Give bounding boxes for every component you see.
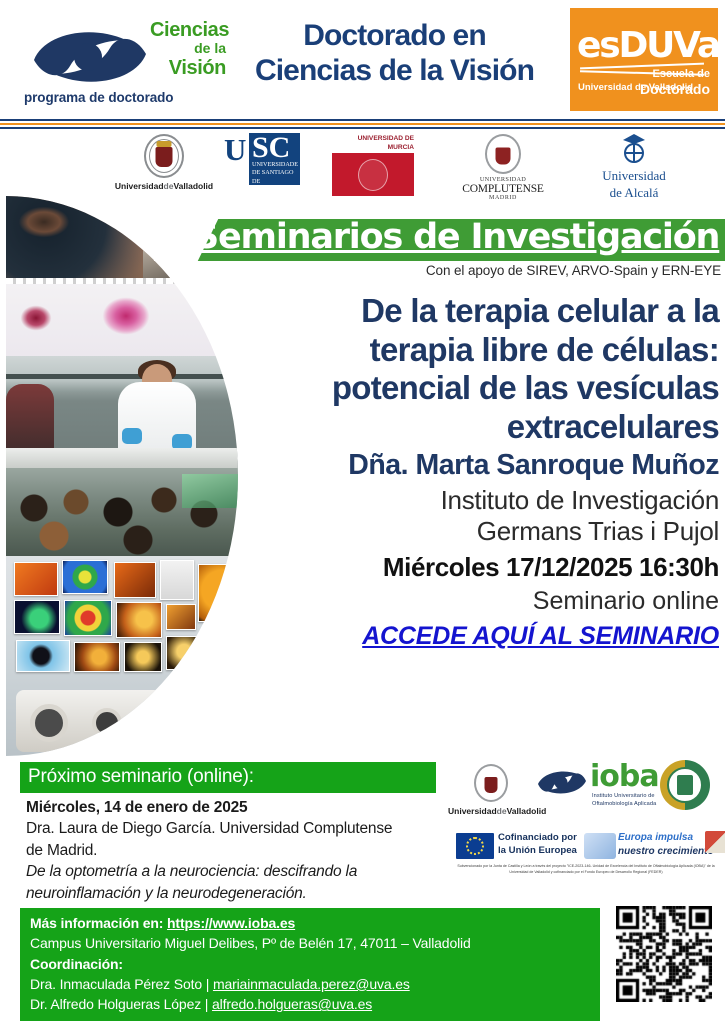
next-seminar-box: Próximo seminario (online): Miércoles, 1… — [20, 762, 436, 905]
next-seminar-heading: Próximo seminario (online): — [20, 762, 436, 793]
funding-logos-row: Cofinanciado por la Unión Europea Europa… — [456, 830, 722, 862]
page-title-line-2: Ciencias de la Visión — [222, 53, 567, 88]
photo-histology-slides — [6, 278, 238, 356]
more-info-line: Más información en: https://www.ioba.es — [30, 913, 590, 933]
murcia-crest-icon — [332, 153, 414, 196]
next-seminar-talk-line-1: De la optometría a la neurociencia: desc… — [26, 861, 434, 883]
contact-box: Más información en: https://www.ioba.es … — [20, 908, 600, 1021]
usc-letters-sc: SC — [252, 132, 290, 164]
junta-castilla-leon-icon — [705, 831, 725, 853]
usc-block: SC UNIVERSIDADE DE SANTIAGO DE COMPOSTEL… — [249, 133, 300, 185]
uva-seal-icon-footer — [474, 764, 508, 802]
usc-mark-icon: U SC UNIVERSIDADE DE SANTIAGO DE COMPOST… — [224, 133, 300, 185]
complutense-label-3: MADRID — [444, 195, 562, 201]
photo-lecture-audience — [6, 468, 238, 556]
esduva-wordmark: esDUVa — [577, 28, 713, 64]
affiliation-line-1: Instituto de Investigación — [234, 485, 719, 517]
separator-2: | — [201, 996, 212, 1012]
seminar-speaker: Dña. Marta Sanroque Muñoz — [234, 448, 719, 482]
eye-icon — [30, 26, 150, 88]
header-divider — [0, 119, 725, 129]
logo-line-3: Visión — [150, 58, 226, 79]
more-info-label: Más información en: — [30, 915, 163, 931]
complutense-label-1: UNIVERSIDAD — [444, 176, 562, 183]
ciencias-vision-wordmark: Ciencias de la Visión — [150, 20, 226, 79]
coordinator-2-email[interactable]: alfredo.holgueras@uva.es — [212, 996, 372, 1012]
logo-universidad-valladolid: UniversidaddeValladolid — [100, 134, 228, 191]
seminar-poster: Ciencias de la Visión programa de doctor… — [0, 0, 725, 1024]
usc-sublabel: UNIVERSIDADE DE SANTIAGO DE COMPOSTELA — [252, 161, 300, 194]
logo-line-1: Ciencias — [150, 20, 226, 40]
logo-line-2: de la — [150, 40, 226, 58]
coordinator-2-name: Dr. Alfredo Holgueras López — [30, 996, 201, 1012]
banner-title: Seminarios de Investigación — [194, 216, 719, 258]
page-title: Doctorado en Ciencias de la Visión — [222, 18, 567, 89]
usc-letter-u: U — [224, 134, 246, 165]
seminar-title-line-1: De la terapia celular a la — [234, 292, 719, 331]
coordinator-2-line: Dr. Alfredo Holgueras López | alfredo.ho… — [30, 994, 590, 1014]
photo-collage — [6, 196, 238, 756]
murcia-label: UNIVERSIDAD DE MURCIA — [332, 135, 414, 152]
qr-code[interactable] — [616, 906, 712, 1002]
excellence-seal-icon — [660, 760, 710, 810]
photo-eye-examination — [6, 196, 238, 278]
logo-universidad-murcia: UNIVERSIDAD DE MURCIA — [325, 135, 421, 196]
alcala-label-1: Universidad — [570, 168, 698, 183]
coordinator-1-email[interactable]: mariainmaculada.perez@uva.es — [213, 976, 410, 992]
seminar-affiliation: Instituto de Investigación Germans Trias… — [234, 485, 719, 548]
seminar-mode: Seminario online — [234, 586, 719, 616]
funding-disclaimer: Subvencionado por la Junta de Castilla y… — [450, 864, 722, 876]
logo-subtitle: programa de doctorado — [24, 90, 173, 105]
seminar-title-line-4: extracelulares — [234, 408, 719, 447]
eu-flag-icon — [456, 833, 494, 859]
next-seminar-body: Miércoles, 14 de enero de 2025 Dra. Laur… — [20, 793, 436, 905]
uva-label-footer: UniversidaddeValladolid — [448, 806, 546, 816]
poster-header: Ciencias de la Visión programa de doctor… — [0, 0, 725, 118]
next-seminar-talk-line-2: neuroinflamación y la neurodegeneración. — [26, 883, 434, 905]
next-seminar-date: Miércoles, 14 de enero de 2025 — [26, 797, 434, 818]
ioba-wordmark: ioba — [590, 762, 659, 792]
sponsor-logos: UniversidaddeValladolid ioba Instituto U… — [448, 758, 725, 898]
logo-universidad-complutense: UNIVERSIDAD COMPLUTENSE MADRID — [444, 134, 562, 201]
complutense-seal-icon — [485, 134, 521, 174]
seminar-title-line-2: terapia libre de células: — [234, 331, 719, 370]
complutense-label-2: COMPLUTENSE — [444, 183, 562, 195]
uva-seal-icon — [144, 134, 184, 178]
affiliation-line-2: Germans Trias i Pujol — [234, 516, 719, 548]
esduva-uva-label: Universidad de Valladolid — [578, 82, 693, 93]
photo-retinal-imaging — [6, 556, 238, 756]
next-seminar-speaker-line-2: de Madrid. — [26, 840, 434, 861]
esduva-escuela-label: Escuela de — [653, 68, 710, 80]
ciencias-vision-logo: Ciencias de la Visión programa de doctor… — [18, 12, 223, 107]
university-logos-strip: UniversidaddeValladolid U SC UNIVERSIDAD… — [0, 130, 725, 198]
photo-laboratory-researcher — [6, 356, 238, 468]
alcala-mark-icon — [617, 132, 651, 166]
europe-impulsa-icon — [584, 833, 616, 859]
page-title-line-1: Doctorado en — [222, 18, 567, 53]
uva-label: UniversidaddeValladolid — [100, 181, 228, 191]
address-line: Campus Universitario Miguel Delibes, Pº … — [30, 933, 590, 953]
eu-funding-label: Cofinanciado por la Unión Europea — [498, 832, 577, 858]
alcala-label-2: de Alcalá — [570, 185, 698, 200]
ioba-subtitle: Instituto Universitario de Oftalmobiolog… — [592, 793, 656, 808]
banner-support-text: Con el apoyo de SIREV, ARVO-Spain y ERN-… — [426, 263, 721, 278]
ioba-website-link[interactable]: https://www.ioba.es — [167, 915, 295, 931]
ioba-logo: ioba Instituto Universitario de Oftalmob… — [536, 762, 666, 814]
seminar-details: De la terapia celular a la terapia libre… — [234, 292, 719, 651]
coordinator-1-line: Dra. Inmaculada Pérez Soto | mariainmacu… — [30, 974, 590, 994]
logo-usc: U SC UNIVERSIDADE DE SANTIAGO DE COMPOST… — [214, 133, 310, 185]
qr-code-canvas[interactable] — [616, 906, 712, 1002]
separator-1: | — [202, 976, 213, 992]
seminar-title: De la terapia celular a la terapia libre… — [234, 292, 719, 446]
coordinator-1-name: Dra. Inmaculada Pérez Soto — [30, 976, 202, 992]
logo-universidad-alcala: Universidad de Alcalá — [570, 132, 698, 201]
ioba-eye-icon — [536, 768, 588, 798]
access-seminar-link[interactable]: ACCEDE AQUÍ AL SEMINARIO — [362, 622, 719, 651]
esduva-logo: esDUVa Escuela de Doctorado Universidad … — [570, 8, 718, 111]
europe-impulsa-label: Europa impulsa nuestro crecimiento — [618, 831, 714, 859]
coordination-label: Coordinación: — [30, 954, 590, 974]
next-seminar-speaker-line-1: Dra. Laura de Diego García. Universidad … — [26, 818, 434, 839]
seminars-banner: Seminarios de Investigación — [186, 219, 725, 261]
seminar-title-line-3: potencial de las vesículas — [234, 369, 719, 408]
seminar-datetime: Miércoles 17/12/2025 16:30h — [234, 552, 719, 583]
divider-navy-bottom — [0, 127, 725, 129]
